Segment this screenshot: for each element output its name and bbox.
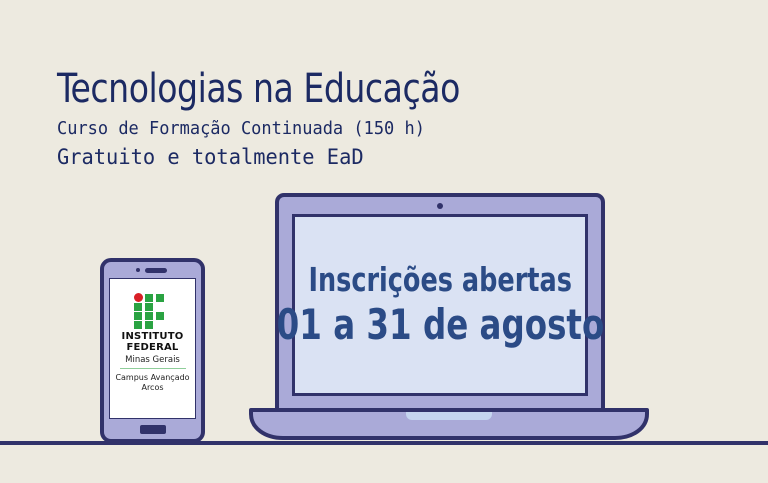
if-logo-square (134, 321, 142, 329)
enrollment-dates-text: 01 a 31 de agosto (276, 302, 604, 348)
laptop-lid: Inscrições abertas 01 a 31 de agosto (275, 193, 605, 412)
if-logo-square (156, 312, 164, 320)
laptop-webcam-icon (437, 203, 443, 209)
laptop-illustration: Inscrições abertas 01 a 31 de agosto (249, 193, 649, 443)
if-logo-square (145, 321, 153, 329)
if-campus-line-1: Campus Avançado (111, 373, 195, 383)
if-institute-line-1: INSTITUTO (122, 332, 184, 343)
phone-speaker-icon (145, 268, 167, 273)
course-subtitle: Curso de Formação Continuada (150 h) (57, 116, 561, 142)
laptop-screen: Inscrições abertas 01 a 31 de agosto (292, 214, 588, 396)
if-logo-icon (134, 293, 172, 329)
phone-home-button[interactable] (140, 425, 166, 434)
phone-screen: INSTITUTO FEDERAL Minas Gerais Campus Av… (109, 278, 196, 419)
headline-block: Tecnologias na Educação Curso de Formaçã… (57, 68, 577, 171)
if-logo-square (134, 303, 142, 311)
phone-illustration: INSTITUTO FEDERAL Minas Gerais Campus Av… (100, 258, 205, 443)
if-logo-square (134, 312, 142, 320)
course-modality: Gratuito e totalmente EaD (57, 143, 561, 171)
if-logo-red-dot (134, 293, 143, 302)
poster-canvas: Tecnologias na Educação Curso de Formaçã… (0, 0, 768, 483)
if-campus-line-2: Arcos (111, 383, 195, 393)
if-logo-square (145, 312, 153, 320)
phone-camera-icon (136, 268, 140, 272)
if-logo-square (156, 294, 164, 302)
if-logo-square (145, 294, 153, 302)
page-title: Tecnologias na Educação (57, 68, 535, 110)
if-logo-square (145, 303, 153, 311)
enrollment-status-text: Inscrições abertas (308, 262, 571, 298)
if-institute-line-2: FEDERAL (126, 343, 178, 354)
if-state-label: Minas Gerais (120, 354, 186, 369)
laptop-trackpad (406, 412, 492, 420)
